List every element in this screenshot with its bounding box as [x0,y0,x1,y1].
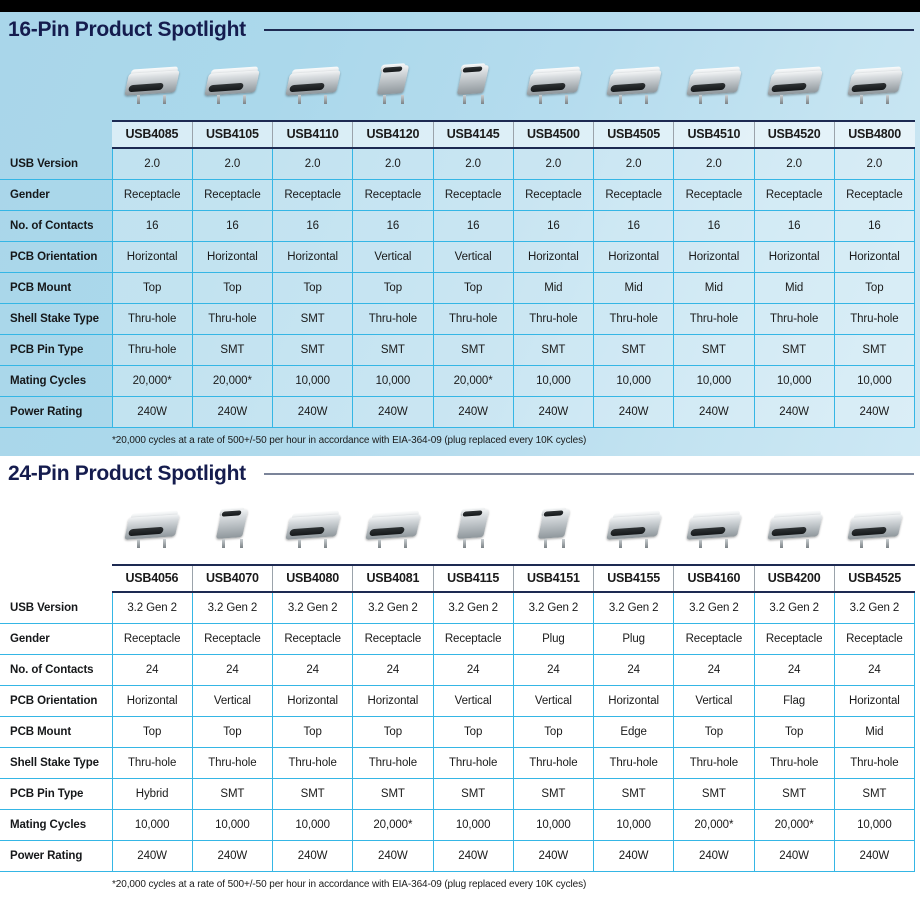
cell: 2.0 [594,148,674,180]
usb-c-connector-icon [605,508,663,548]
cell: Top [754,717,834,748]
table-row: PCB MountTopTopTopTopTopMidMidMidMidTop [0,273,915,304]
cell: Vertical [433,686,513,717]
cell: Receptacle [273,180,353,211]
cell: SMT [273,304,353,335]
cell: Receptacle [433,180,513,211]
cell: Top [674,717,754,748]
table-row: Mating Cycles10,00010,00010,00020,000*10… [0,810,915,841]
table-row: No. of Contacts24242424242424242424 [0,655,915,686]
cell: Receptacle [594,180,674,211]
row-label-power-rating: Power Rating [0,841,112,872]
column-header-usb4070[interactable]: USB4070 [192,565,272,592]
cell: Top [273,717,353,748]
cell: 10,000 [273,810,353,841]
cell: Receptacle [353,624,433,655]
product-image-usb4520 [754,48,834,120]
row-label-no-of-contacts: No. of Contacts [0,655,112,686]
cell: 10,000 [834,810,914,841]
cell: Plug [513,624,593,655]
cell: Top [433,717,513,748]
table-header-row: USB4056USB4070USB4080USB4081USB4115USB41… [0,565,915,592]
column-header-usb4056[interactable]: USB4056 [112,565,192,592]
usb-c-connector-icon [685,64,743,104]
cell: Horizontal [834,242,914,273]
cell: Thru-hole [112,335,192,366]
table-row: USB Version2.02.02.02.02.02.02.02.02.02.… [0,148,915,180]
cell: SMT [433,779,513,810]
table-row: Mating Cycles20,000*20,000*10,00010,0002… [0,366,915,397]
cell: Thru-hole [273,748,353,779]
cell: 20,000* [112,366,192,397]
cell: SMT [513,779,593,810]
row-label-shell-stake-type: Shell Stake Type [0,304,112,335]
usb-c-connector-icon [444,64,502,104]
cell: 10,000 [754,366,834,397]
column-header-usb4525[interactable]: USB4525 [834,565,914,592]
section-16-pin: 16-Pin Product Spotlight USB4085USB4105U… [0,12,920,456]
cell: 24 [433,655,513,686]
cell: Receptacle [754,180,834,211]
cell: 16 [273,211,353,242]
cell: 2.0 [513,148,593,180]
cell: Vertical [433,242,513,273]
cell: Thru-hole [513,304,593,335]
cell: 10,000 [513,366,593,397]
cell: SMT [754,335,834,366]
cell: 20,000* [353,810,433,841]
cell: Horizontal [513,242,593,273]
cell: 10,000 [594,810,674,841]
cell: 240W [513,841,593,872]
usb-c-connector-icon [284,64,342,104]
cell: Horizontal [754,242,834,273]
table-header-row: USB4085USB4105USB4110USB4120USB4145USB45… [0,121,915,148]
product-image-usb4505 [594,48,674,120]
column-header-usb4081[interactable]: USB4081 [353,565,433,592]
usb-c-connector-icon [766,64,824,104]
cell: Thru-hole [353,304,433,335]
footnote-16-pin: *20,000 cycles at a rate of 500+/-50 per… [0,428,920,452]
cell: 10,000 [112,810,192,841]
cell: Receptacle [834,180,914,211]
cell: Thru-hole [834,304,914,335]
product-image-usb4200 [754,492,834,564]
cell: 16 [674,211,754,242]
product-image-usb4525 [835,492,915,564]
cell: 240W [754,397,834,428]
cell: 240W [192,397,272,428]
cell: 3.2 Gen 2 [353,592,433,624]
column-header-usb4110[interactable]: USB4110 [273,121,353,148]
column-header-usb4505[interactable]: USB4505 [594,121,674,148]
footnote-24-pin: *20,000 cycles at a rate of 500+/-50 per… [0,872,920,896]
cell: 3.2 Gen 2 [273,592,353,624]
cell: Mid [594,273,674,304]
cell: Top [112,717,192,748]
table-row: USB Version3.2 Gen 23.2 Gen 23.2 Gen 23.… [0,592,915,624]
spec-table-16-pin: USB4085USB4105USB4110USB4120USB4145USB45… [0,120,915,428]
column-header-usb4155[interactable]: USB4155 [594,565,674,592]
row-label-usb-version: USB Version [0,592,112,624]
cell: SMT [192,335,272,366]
section-header-16-pin: 16-Pin Product Spotlight [0,12,920,48]
cell: 10,000 [834,366,914,397]
column-header-usb4105[interactable]: USB4105 [192,121,272,148]
column-header-usb4510[interactable]: USB4510 [674,121,754,148]
cell: 2.0 [353,148,433,180]
cell: Mid [513,273,593,304]
cell: 16 [353,211,433,242]
cell: SMT [594,779,674,810]
product-image-usb4145 [433,48,513,120]
product-image-usb4115 [433,492,513,564]
cell: 10,000 [353,366,433,397]
title-rule [264,29,914,31]
cell: Thru-hole [192,304,272,335]
cell: Thru-hole [834,748,914,779]
usb-c-connector-icon [846,508,904,548]
row-label-pcb-pin-type: PCB Pin Type [0,779,112,810]
cell: 24 [273,655,353,686]
cell: Horizontal [112,242,192,273]
cell: 3.2 Gen 2 [594,592,674,624]
column-header-usb4500[interactable]: USB4500 [513,121,593,148]
table-row: Shell Stake TypeThru-holeThru-holeThru-h… [0,748,915,779]
usb-c-connector-icon [605,64,663,104]
row-label-pcb-pin-type: PCB Pin Type [0,335,112,366]
page-title-16-pin: 16-Pin Product Spotlight [8,18,246,42]
table-row: PCB OrientationHorizontalHorizontalHoriz… [0,242,915,273]
product-image-usb4120 [353,48,433,120]
cell: 240W [353,397,433,428]
cell: 20,000* [674,810,754,841]
cell: 2.0 [192,148,272,180]
column-header-usb4145[interactable]: USB4145 [433,121,513,148]
cell: SMT [594,335,674,366]
cell: 3.2 Gen 2 [433,592,513,624]
cell: 240W [594,841,674,872]
row-label-pcb-mount: PCB Mount [0,717,112,748]
cell: Top [192,717,272,748]
usb-c-connector-icon [364,64,422,104]
product-image-usb4160 [674,492,754,564]
cell: 16 [754,211,834,242]
cell: Vertical [353,242,433,273]
cell: 24 [754,655,834,686]
cell: Thru-hole [674,748,754,779]
cell: 3.2 Gen 2 [754,592,834,624]
top-black-bar [0,0,920,12]
cell: SMT [433,335,513,366]
cell: 10,000 [674,366,754,397]
cell: Horizontal [192,242,272,273]
cell: Horizontal [112,686,192,717]
cell: Receptacle [192,624,272,655]
cell: Mid [834,717,914,748]
cell: 240W [674,841,754,872]
table-row: PCB Pin TypeHybridSMTSMTSMTSMTSMTSMTSMTS… [0,779,915,810]
cell: Top [353,273,433,304]
cell: 24 [112,655,192,686]
cell: Top [112,273,192,304]
product-image-usb4151 [513,492,593,564]
cell: 16 [192,211,272,242]
product-image-usb4105 [192,48,272,120]
cell: Top [834,273,914,304]
cell: SMT [674,335,754,366]
cell: 24 [594,655,674,686]
table-row: PCB MountTopTopTopTopTopTopEdgeTopTopMid [0,717,915,748]
cell: Thru-hole [513,748,593,779]
cell: Receptacle [273,624,353,655]
cell: 24 [192,655,272,686]
cell: SMT [192,779,272,810]
column-header-usb4085[interactable]: USB4085 [112,121,192,148]
cell: Horizontal [674,242,754,273]
cell: Thru-hole [112,304,192,335]
column-header-usb4120[interactable]: USB4120 [353,121,433,148]
column-header-usb4200[interactable]: USB4200 [754,565,834,592]
cell: 16 [433,211,513,242]
cell: Horizontal [273,242,353,273]
cell: Horizontal [594,686,674,717]
cell: 240W [433,841,513,872]
cell: 240W [433,397,513,428]
usb-c-connector-icon [685,508,743,548]
cell: 2.0 [674,148,754,180]
cell: SMT [513,335,593,366]
usb-c-connector-icon [123,64,181,104]
product-image-usb4080 [273,492,353,564]
cell: Vertical [513,686,593,717]
cell: SMT [674,779,754,810]
cell: SMT [273,779,353,810]
cell: Thru-hole [192,748,272,779]
cell: Receptacle [112,624,192,655]
cell: Receptacle [353,180,433,211]
cell: 240W [834,397,914,428]
cell: 240W [834,841,914,872]
cell: 240W [754,841,834,872]
cell: SMT [834,335,914,366]
cell: Horizontal [353,686,433,717]
cell: Top [192,273,272,304]
cell: 20,000* [754,810,834,841]
table-row: PCB OrientationHorizontalVerticalHorizon… [0,686,915,717]
cell: Thru-hole [433,304,513,335]
cell: 3.2 Gen 2 [192,592,272,624]
usb-c-connector-icon [444,508,502,548]
section-24-pin: 24-Pin Product Spotlight USB4056USB4070U… [0,456,920,900]
cell: 240W [192,841,272,872]
cell: 2.0 [433,148,513,180]
cell: 16 [834,211,914,242]
cell: 240W [594,397,674,428]
cell: 20,000* [192,366,272,397]
cell: 2.0 [112,148,192,180]
cell: Mid [754,273,834,304]
cell: 240W [353,841,433,872]
usb-c-connector-icon [846,64,904,104]
cell: Thru-hole [754,304,834,335]
row-label-shell-stake-type: Shell Stake Type [0,748,112,779]
cell: Thru-hole [754,748,834,779]
cell: 240W [273,841,353,872]
usb-c-connector-icon [284,508,342,548]
cell: 24 [674,655,754,686]
cell: Flag [754,686,834,717]
cell: Thru-hole [594,748,674,779]
cell: 10,000 [273,366,353,397]
column-header-usb4160[interactable]: USB4160 [674,565,754,592]
column-header-usb4800[interactable]: USB4800 [834,121,914,148]
cell: 240W [112,397,192,428]
cell: Thru-hole [353,748,433,779]
cell: 240W [273,397,353,428]
table-row: PCB Pin TypeThru-holeSMTSMTSMTSMTSMTSMTS… [0,335,915,366]
cell: 10,000 [192,810,272,841]
row-label-pcb-mount: PCB Mount [0,273,112,304]
table-row: Shell Stake TypeThru-holeThru-holeSMTThr… [0,304,915,335]
cell: Horizontal [834,686,914,717]
cell: 240W [674,397,754,428]
cell: Receptacle [513,180,593,211]
cell: 24 [834,655,914,686]
column-header-usb4115[interactable]: USB4115 [433,565,513,592]
cell: Thru-hole [433,748,513,779]
table-corner-spacer [0,121,112,148]
product-image-strip-16-pin [0,48,920,120]
cell: Mid [674,273,754,304]
usb-c-connector-icon [364,508,422,548]
product-image-usb4056 [112,492,192,564]
cell: SMT [834,779,914,810]
cell: Receptacle [674,180,754,211]
usb-c-connector-icon [203,64,261,104]
row-label-gender: Gender [0,180,112,211]
cell: Top [353,717,433,748]
cell: 2.0 [754,148,834,180]
product-image-usb4081 [353,492,433,564]
cell: Thru-hole [674,304,754,335]
row-label-power-rating: Power Rating [0,397,112,428]
column-header-usb4151[interactable]: USB4151 [513,565,593,592]
cell: SMT [754,779,834,810]
cell: Receptacle [834,624,914,655]
cell: Hybrid [112,779,192,810]
cell: 3.2 Gen 2 [513,592,593,624]
table-row: GenderReceptacleReceptacleReceptacleRece… [0,624,915,655]
cell: 20,000* [433,366,513,397]
row-label-pcb-orientation: PCB Orientation [0,242,112,273]
row-label-no-of-contacts: No. of Contacts [0,211,112,242]
cell: Plug [594,624,674,655]
cell: 16 [513,211,593,242]
cell: 3.2 Gen 2 [834,592,914,624]
product-image-usb4155 [594,492,674,564]
product-image-usb4110 [273,48,353,120]
cell: Top [513,717,593,748]
spec-table-24-pin: USB4056USB4070USB4080USB4081USB4115USB41… [0,564,915,872]
column-header-usb4080[interactable]: USB4080 [273,565,353,592]
cell: 24 [513,655,593,686]
cell: 16 [594,211,674,242]
cell: Receptacle [192,180,272,211]
cell: Top [273,273,353,304]
title-rule [264,473,914,475]
cell: 16 [112,211,192,242]
cell: Receptacle [112,180,192,211]
cell: Vertical [674,686,754,717]
product-image-usb4500 [513,48,593,120]
cell: Horizontal [273,686,353,717]
cell: 10,000 [433,810,513,841]
row-label-mating-cycles: Mating Cycles [0,810,112,841]
product-image-strip-24-pin [0,492,920,564]
row-label-gender: Gender [0,624,112,655]
table-corner-spacer [0,565,112,592]
usb-c-connector-icon [766,508,824,548]
column-header-usb4520[interactable]: USB4520 [754,121,834,148]
cell: 2.0 [273,148,353,180]
cell: Top [433,273,513,304]
cell: 2.0 [834,148,914,180]
cell: SMT [353,335,433,366]
usb-c-connector-icon [525,508,583,548]
cell: Edge [594,717,674,748]
cell: SMT [353,779,433,810]
cell: 24 [353,655,433,686]
cell: 3.2 Gen 2 [674,592,754,624]
row-label-usb-version: USB Version [0,148,112,180]
table-row: Power Rating240W240W240W240W240W240W240W… [0,841,915,872]
usb-c-connector-icon [525,64,583,104]
cell: Receptacle [433,624,513,655]
cell: Thru-hole [594,304,674,335]
cell: SMT [273,335,353,366]
table-row: No. of Contacts16161616161616161616 [0,211,915,242]
cell: Vertical [192,686,272,717]
cell: 10,000 [513,810,593,841]
product-image-usb4085 [112,48,192,120]
row-label-mating-cycles: Mating Cycles [0,366,112,397]
usb-c-connector-icon [123,508,181,548]
cell: 3.2 Gen 2 [112,592,192,624]
cell: 240W [513,397,593,428]
product-image-usb4510 [674,48,754,120]
table-row: GenderReceptacleReceptacleReceptacleRece… [0,180,915,211]
cell: 240W [112,841,192,872]
cell: Receptacle [754,624,834,655]
product-image-usb4800 [835,48,915,120]
cell: Horizontal [594,242,674,273]
section-header-24-pin: 24-Pin Product Spotlight [0,456,920,492]
product-spotlight-page: 16-Pin Product Spotlight USB4085USB4105U… [0,0,920,855]
cell: 10,000 [594,366,674,397]
cell: Thru-hole [112,748,192,779]
row-label-pcb-orientation: PCB Orientation [0,686,112,717]
usb-c-connector-icon [203,508,261,548]
cell: Receptacle [674,624,754,655]
page-title-24-pin: 24-Pin Product Spotlight [8,462,246,486]
product-image-usb4070 [192,492,272,564]
table-row: Power Rating240W240W240W240W240W240W240W… [0,397,915,428]
